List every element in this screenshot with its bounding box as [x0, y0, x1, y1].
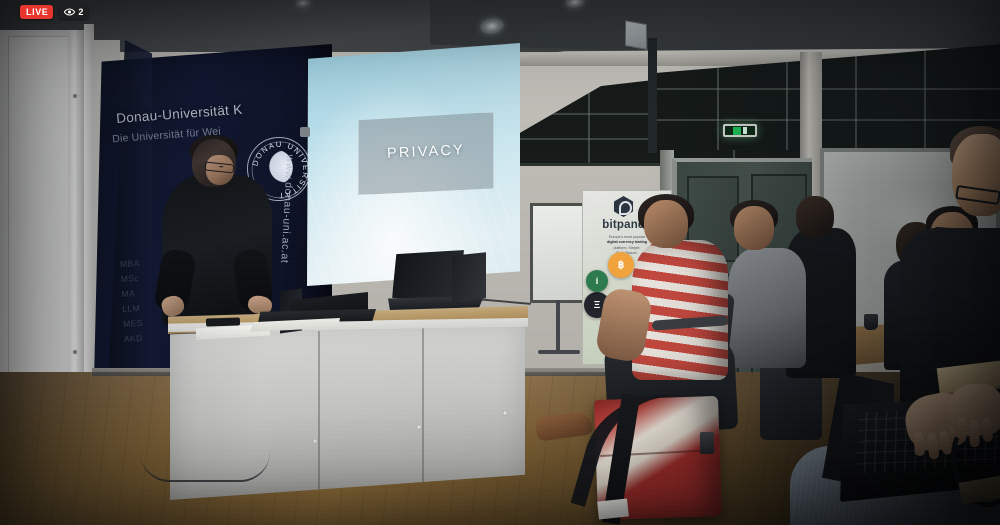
viewer-count-badge[interactable]: 2 [59, 5, 88, 19]
ceiling-speaker [625, 20, 647, 50]
stream-status-overlay: LIVE 2 [20, 5, 88, 19]
smartphone [206, 317, 240, 326]
exit-running-man-icon [733, 127, 741, 135]
bag-paper-tag [597, 498, 629, 519]
floor-cable [140, 452, 270, 482]
viewer-count-value: 2 [78, 8, 83, 17]
laptop-lid [452, 252, 486, 302]
degree-item: AKD [124, 330, 159, 347]
video-stream-frame: Donau-Universität K Die Universität für … [0, 0, 1000, 525]
banner-degree-list: MBA MSc MA LLM MES AKD [120, 255, 159, 347]
iota-coin-icon: i [586, 270, 608, 292]
audience-head [734, 206, 774, 250]
audience-head [796, 196, 834, 238]
live-badge[interactable]: LIVE [20, 5, 53, 19]
emergency-exit-sign [723, 124, 757, 137]
exit-door-icon [743, 127, 747, 134]
screen-mount [300, 127, 310, 137]
window-frame [648, 38, 657, 153]
eye-icon [64, 8, 75, 16]
audience-head [644, 200, 688, 248]
audience-person-grey-shirt [728, 248, 806, 368]
flipchart-board [530, 203, 588, 303]
flipchart-stand [556, 300, 560, 352]
bitcoin-coin-icon: ฿ [608, 252, 634, 278]
flipchart-foot [538, 350, 580, 354]
drinking-cup [864, 314, 878, 330]
bag-buckle [700, 432, 714, 454]
